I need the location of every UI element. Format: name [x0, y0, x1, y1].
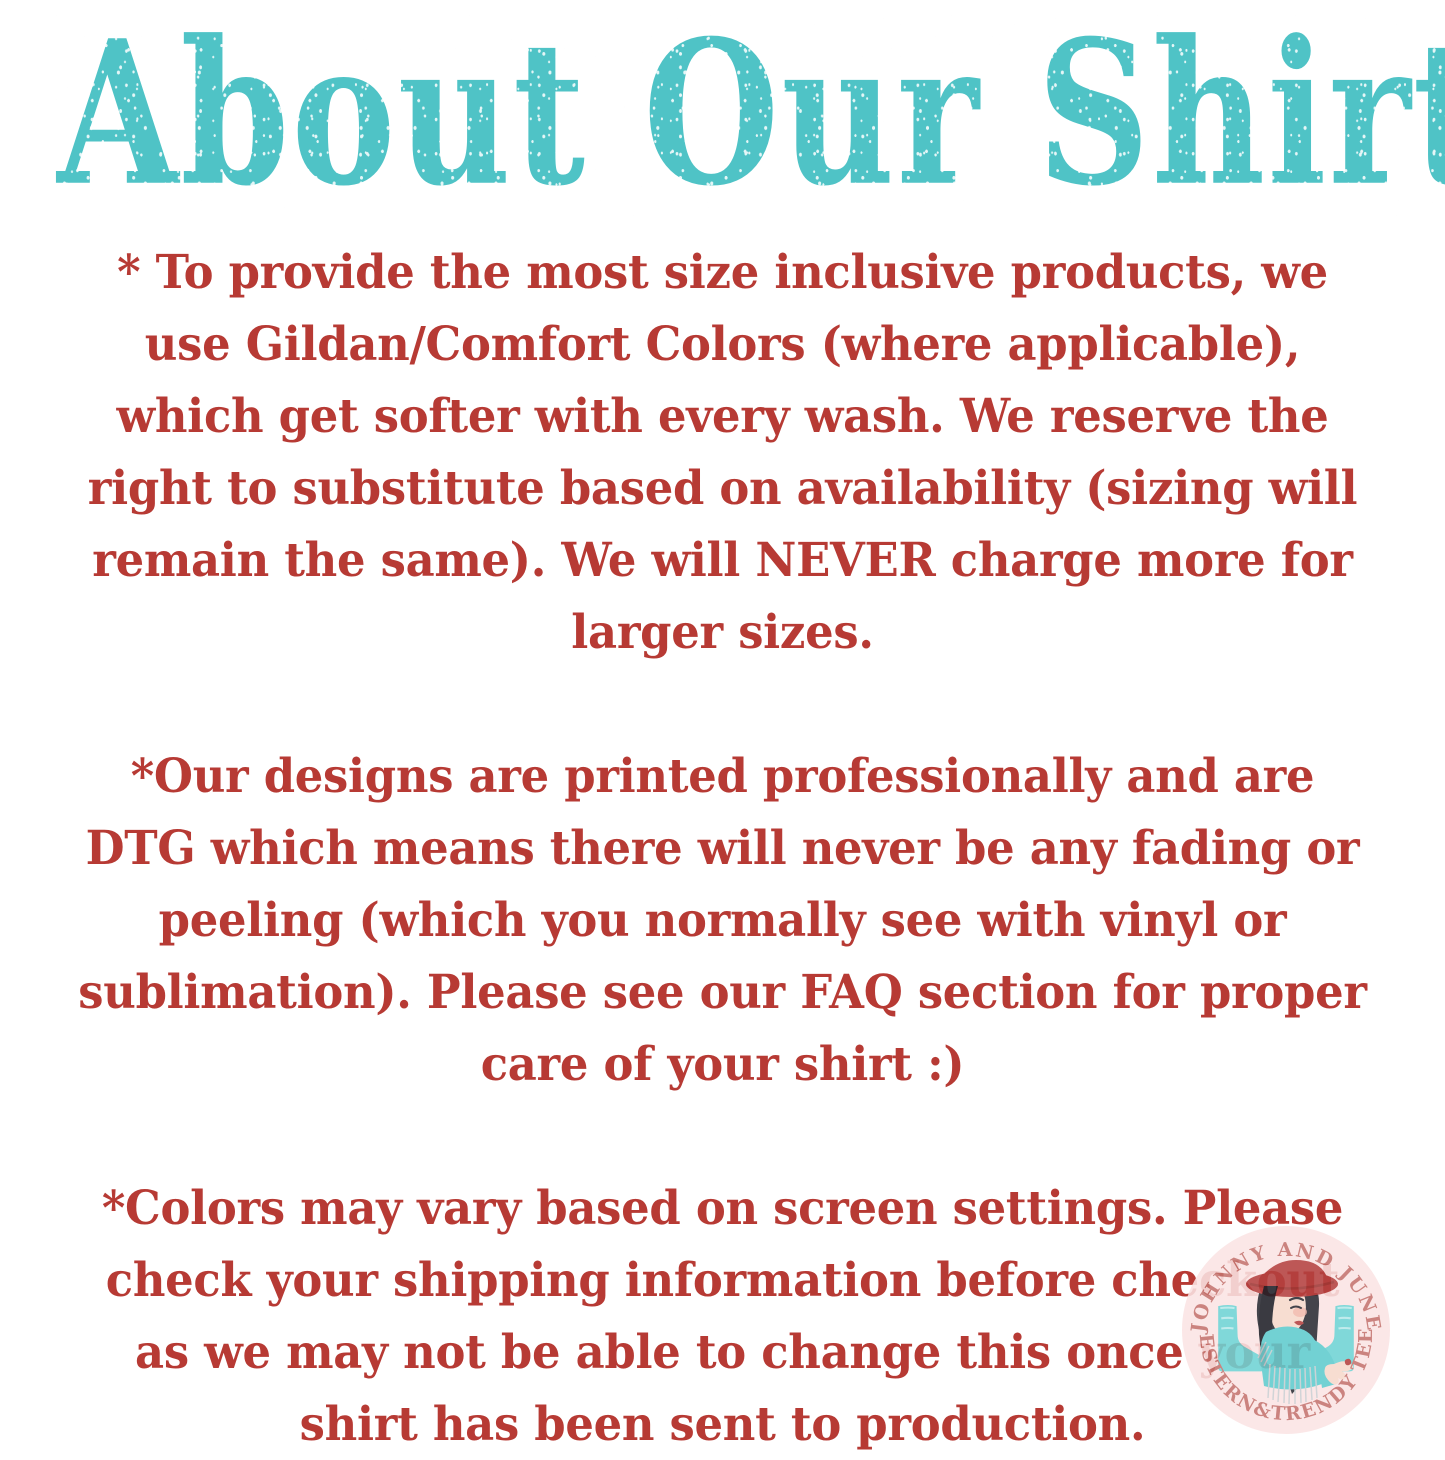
brand-logo-watermark: JOHNNY AND JUNE WESTERN&TRENDY TEES — [1178, 1222, 1394, 1438]
paragraph-printing-method: *Our designs are printed professionally … — [75, 740, 1369, 1100]
paragraph-colors-and-shipping: *Colors may vary based on screen setting… — [75, 1172, 1369, 1460]
poster-canvas: About Our Shirts * To provide the most s… — [0, 0, 1445, 1445]
page-title-container: About Our Shirts — [0, 14, 1445, 182]
page-title-text: About Our Shirts — [57, 14, 1445, 212]
paragraph-shirt-brands: * To provide the most size inclusive pro… — [75, 236, 1369, 668]
page-title: About Our Shirts — [57, 14, 1445, 212]
